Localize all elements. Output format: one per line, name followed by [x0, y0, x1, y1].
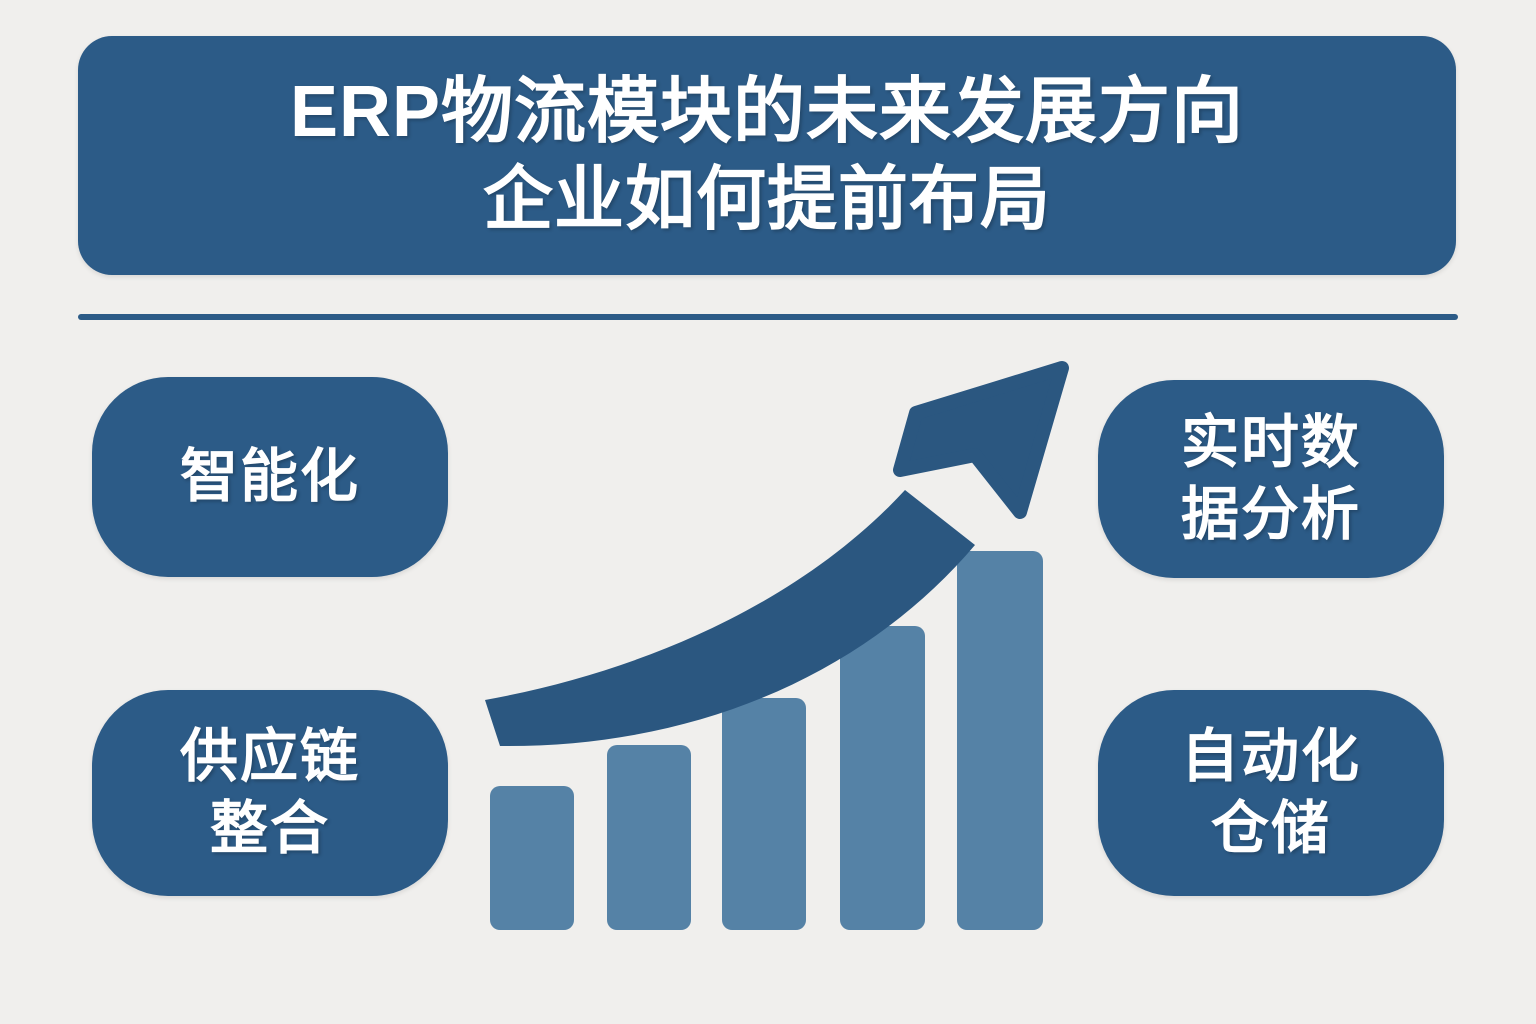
feature-pill-supply-chain-line-2: 整合 — [210, 793, 330, 865]
page-title-line-1: ERP物流模块的未来发展方向 — [290, 69, 1244, 157]
feature-pill-intelligent: 智能化 — [92, 377, 448, 577]
chart-bar — [607, 745, 691, 930]
chart-bar — [490, 786, 574, 930]
growth-arrow-icon — [485, 368, 1062, 746]
title-banner: ERP物流模块的未来发展方向 企业如何提前布局 — [78, 36, 1456, 275]
feature-pill-automated-warehouse: 自动化 仓储 — [1098, 690, 1444, 896]
chart-bar — [722, 698, 806, 930]
feature-pill-realtime-data-line-2: 据分析 — [1181, 479, 1361, 551]
feature-pill-automated-warehouse-line-2: 仓储 — [1211, 793, 1331, 865]
infographic-canvas: ERP物流模块的未来发展方向 企业如何提前布局 智能化 供应链 整合 实时数 据… — [0, 0, 1536, 1024]
feature-pill-supply-chain: 供应链 整合 — [92, 690, 448, 896]
feature-pill-realtime-data: 实时数 据分析 — [1098, 380, 1444, 578]
chart-bar — [957, 551, 1043, 930]
feature-pill-realtime-data-line-1: 实时数 — [1181, 407, 1361, 479]
page-title-line-2: 企业如何提前布局 — [483, 157, 1051, 242]
bar-series — [490, 551, 1043, 930]
feature-pill-intelligent-line-1: 智能化 — [180, 441, 360, 513]
divider-rule — [78, 314, 1458, 320]
feature-pill-supply-chain-line-1: 供应链 — [180, 721, 360, 793]
feature-pill-automated-warehouse-line-1: 自动化 — [1181, 721, 1361, 793]
chart-bar — [840, 626, 925, 930]
